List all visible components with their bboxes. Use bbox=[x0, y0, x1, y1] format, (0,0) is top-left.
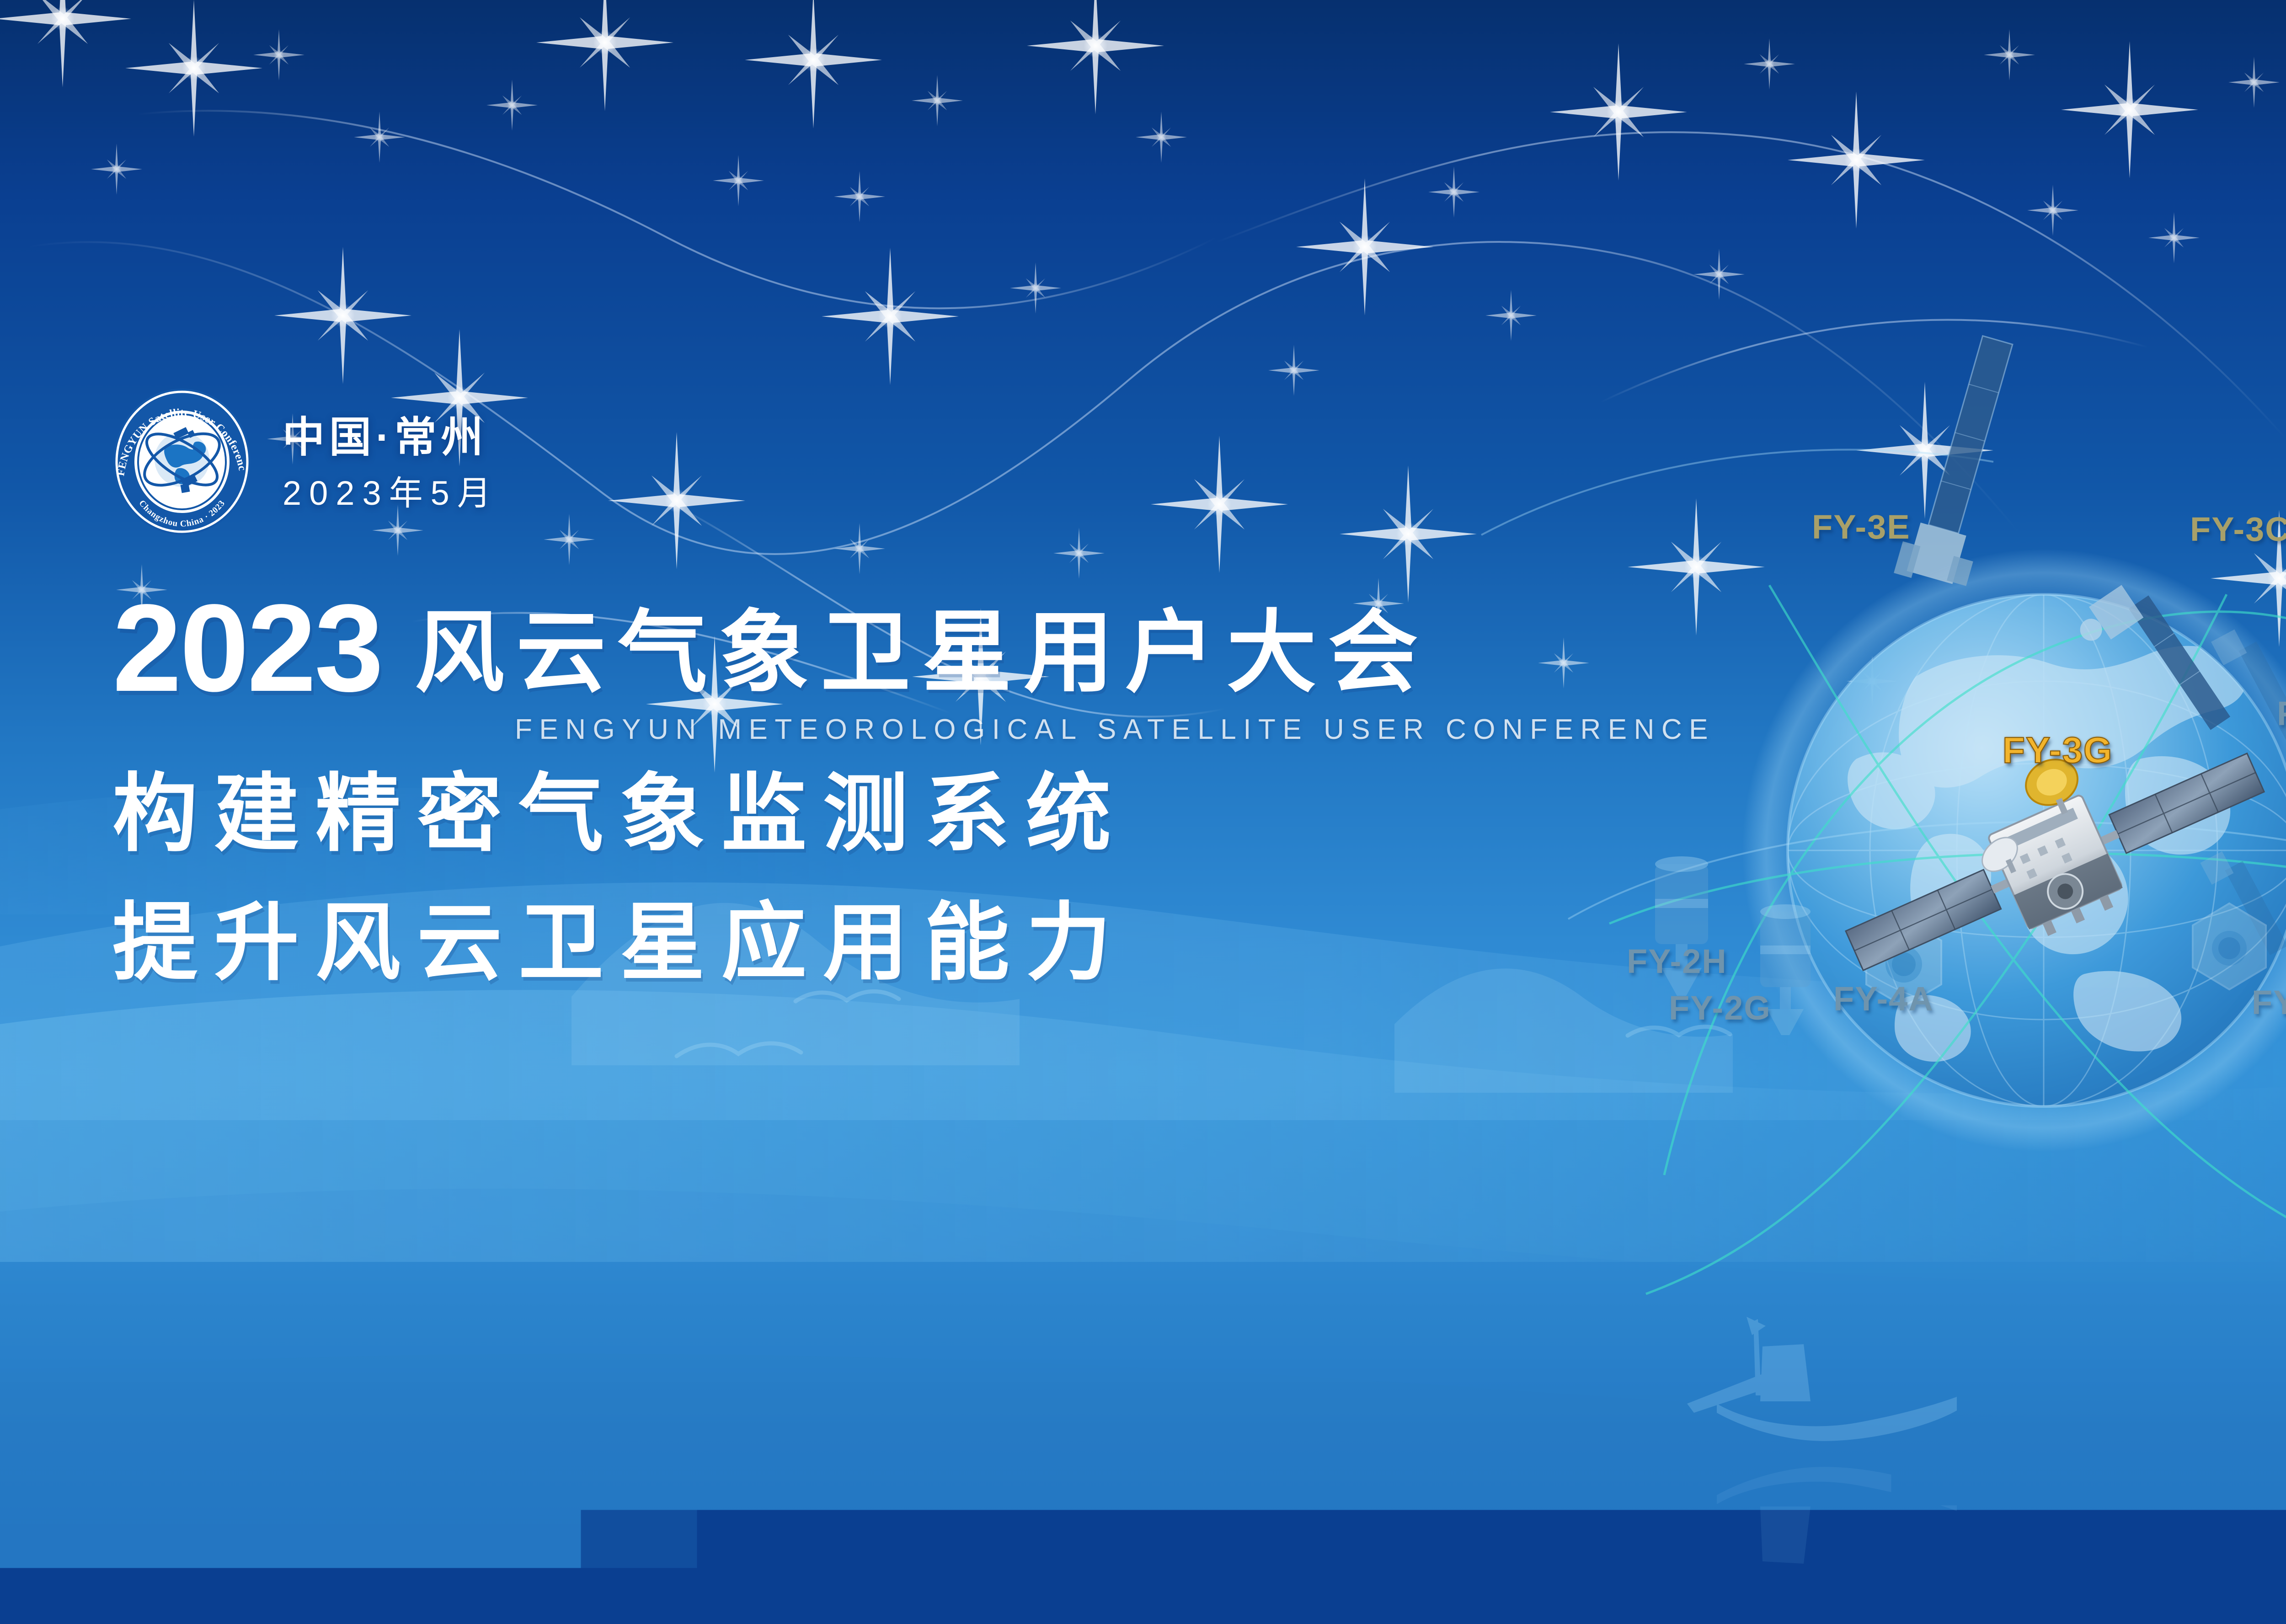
headline-block: 2023 风云气象卫星用户大会 FENGYUN METEOROLOGICAL S… bbox=[112, 591, 1713, 746]
conference-logo-block: FENGYUN Satellite User Conference Changz… bbox=[109, 386, 499, 537]
conference-poster: FENGYUN Satellite User Conference Changz… bbox=[0, 0, 2286, 1624]
conference-title-en: FENGYUN METEOROLOGICAL SATELLITE USER CO… bbox=[515, 713, 1713, 746]
satellite-label-fy-3d: FY-3D bbox=[2277, 694, 2286, 733]
satellite-label-fy-4b: FY-4B bbox=[2252, 983, 2286, 1022]
slogan-line-2: 提升风云卫星应用能力 bbox=[112, 901, 1127, 986]
satellite-label-fy-4a: FY-4A bbox=[1833, 979, 1934, 1018]
satellite-label-fy-3e: FY-3E bbox=[1812, 507, 1911, 546]
year-label: 2023 bbox=[112, 591, 382, 705]
satellite-label-fy-2h: FY-2H bbox=[1627, 942, 1727, 981]
fengyun-satellite-user-conference-emblem: FENGYUN Satellite User Conference Changz… bbox=[109, 386, 255, 537]
location-label: 中国·常州 bbox=[283, 414, 499, 461]
satellite-fy-4b bbox=[2193, 903, 2266, 989]
satellite-fy-3e bbox=[1894, 330, 2034, 593]
location-date-block: 中国·常州 2023年5月 bbox=[283, 408, 499, 516]
satellite-fy-3g bbox=[1846, 752, 2264, 971]
satellite-fy-3d bbox=[2200, 623, 2286, 964]
conference-title-cn: 风云气象卫星用户大会 bbox=[415, 608, 1430, 698]
title-row: 2023 风云气象卫星用户大会 bbox=[112, 591, 1713, 705]
slogan-line-1: 构建精密气象监测系统 bbox=[112, 772, 1127, 857]
satellite-label-fy-2g: FY-2G bbox=[1669, 988, 1771, 1027]
satellite-label-fy-3g: FY-3G bbox=[2003, 729, 2113, 771]
date-label: 2023年5月 bbox=[283, 470, 499, 516]
satellite-label-fy-3c: FY-3C bbox=[2190, 510, 2286, 549]
